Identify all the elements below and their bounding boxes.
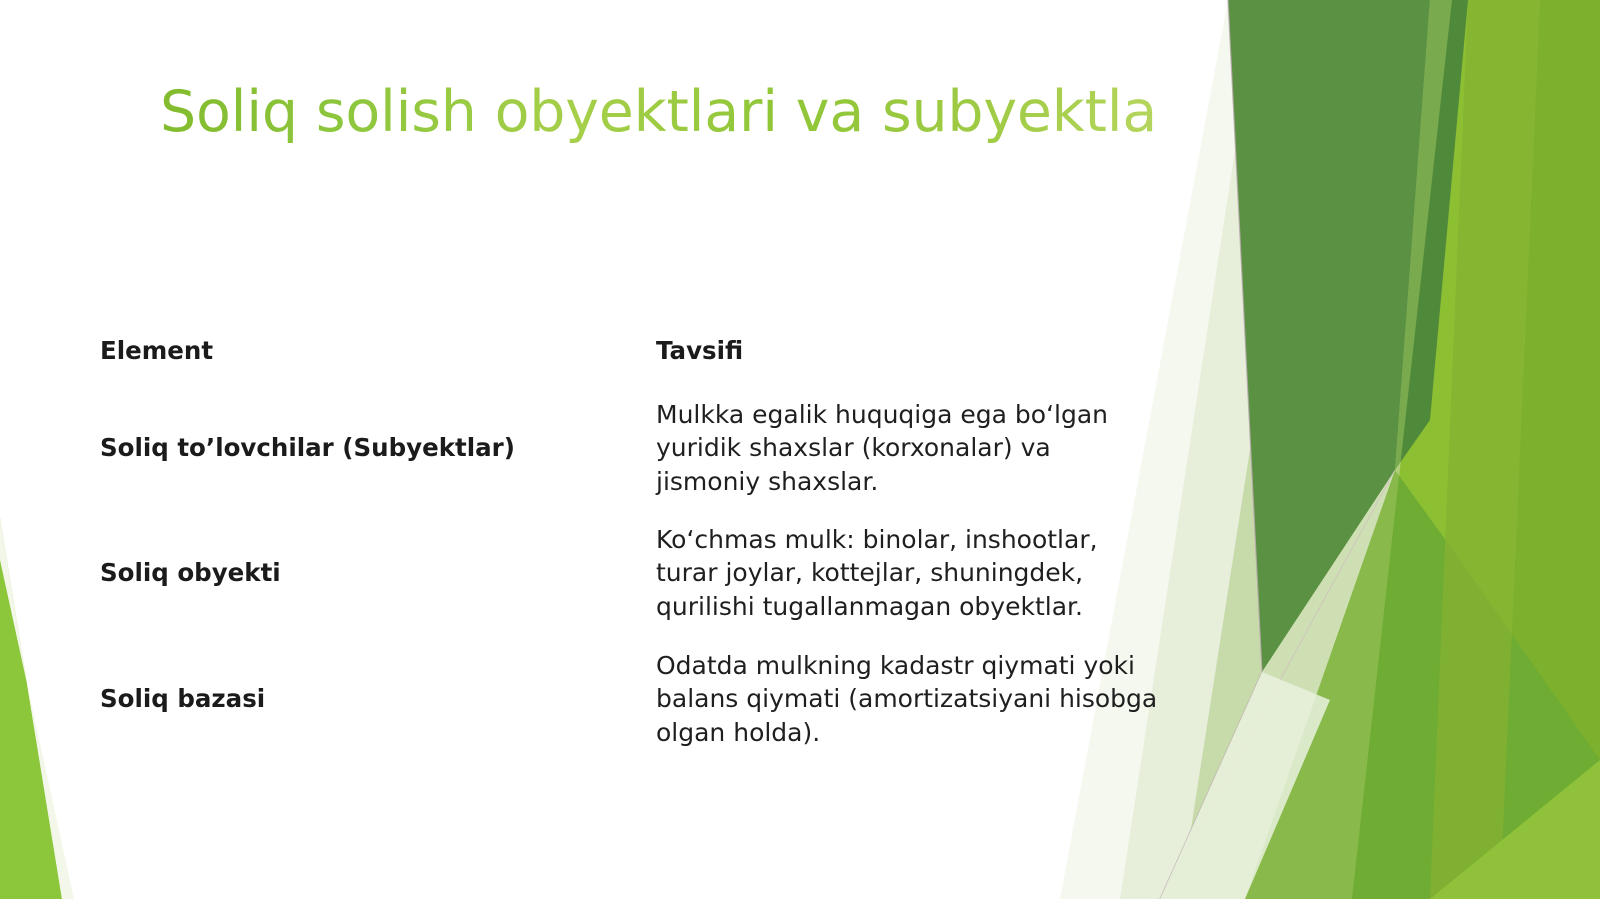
deco-shape-mid-diagonal-2 [1160,470,1395,899]
deco-shape-pale-facet [1180,0,1600,899]
deco-shape-light-facet [1160,672,1330,899]
deco-shape-lime-right [1352,0,1600,899]
slide-canvas: Soliq solish obyektlari va subyektlar El… [0,0,1600,899]
deco-shape-mid-diagonal [1245,470,1600,899]
row-label-soliq-obyekti: Soliq obyekti [100,558,656,589]
deco-shape-pale-band [1120,0,1600,899]
deco-shape-dark-wedge [1228,0,1430,672]
table-row: Soliq to’lovchilar (Subyektlar) Mulkka e… [100,386,1160,510]
column-header-element: Element [100,336,656,365]
table-row: Soliq bazasi Odatda mulkning kadastr qiy… [100,636,1160,762]
deco-outline-2 [1160,470,1395,899]
deco-shape-left-wedge-soft [0,518,74,899]
deco-shape-pale-facet-2 [1245,0,1452,899]
deco-shape-lime-edge [1500,0,1600,899]
row-description-soliq-obyekti: Ko‘chmas mulk: binolar, inshootlar, tura… [656,523,1160,623]
column-header-tavsifi: Tavsifi [656,336,1160,365]
table-header-row: Element Tavsifi [100,316,1160,386]
deco-shape-left-wedge [0,518,62,899]
deco-shape-bright-sliver [1430,0,1540,899]
row-description-soliq-tolovchilar: Mulkka egalik huquqiga ega bo‘lgan yurid… [656,398,1160,498]
deco-shape-bright-block [1430,760,1600,899]
table-row: Soliq obyekti Ko‘chmas mulk: binolar, in… [100,510,1160,636]
deco-shape-dark-wedge-lower [1395,0,1468,470]
row-label-soliq-bazasi: Soliq bazasi [100,684,656,715]
row-label-soliq-tolovchilar: Soliq to’lovchilar (Subyektlar) [100,433,656,464]
row-description-soliq-bazasi: Odatda mulkning kadastr qiymati yoki bal… [656,649,1160,749]
content-table: Element Tavsifi Soliq to’lovchilar (Suby… [100,316,1160,762]
page-title: Soliq solish obyektlari va subyektlar [160,80,1160,146]
